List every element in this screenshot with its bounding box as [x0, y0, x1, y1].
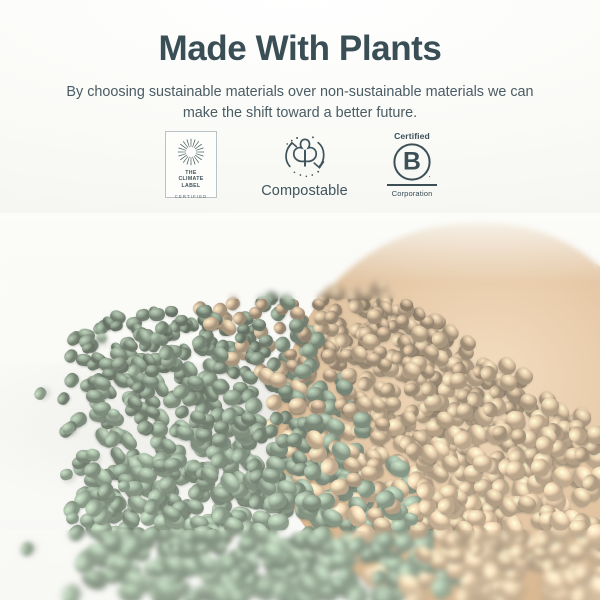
pellet [447, 547, 465, 563]
climate-label-line3: LABEL [178, 183, 203, 189]
made-with-plants-graphic: Made With Plants By choosing sustainable… [0, 0, 600, 600]
pellet [403, 382, 418, 396]
pellet [55, 389, 72, 406]
pellet [267, 513, 289, 532]
climate-label-wordmark: THE CLIMATE LABEL [178, 170, 203, 189]
pellet [109, 320, 124, 334]
b-corp-certified-text: Certified [394, 131, 430, 141]
pellet [353, 412, 371, 428]
svg-text:B: B [403, 149, 421, 176]
badge-climate-label: THE CLIMATE LABEL CERTIFIED [165, 131, 217, 198]
sunburst-icon [176, 137, 206, 167]
pellet [569, 519, 588, 537]
pellet [163, 457, 181, 473]
pellet-photograph [0, 213, 600, 600]
pellet [450, 373, 467, 390]
b-corp-corporation-text: Corporation [392, 189, 433, 198]
scattered-pellet [32, 385, 49, 402]
pellet [62, 371, 81, 390]
pellet [367, 309, 382, 324]
certification-badge-row: THE CLIMATE LABEL CERTIFIED [0, 131, 600, 213]
b-corp-circle-icon: B [392, 142, 432, 182]
pellet [121, 584, 143, 600]
pellet [377, 326, 392, 340]
pellet [58, 581, 84, 600]
scattered-pellet [59, 468, 74, 482]
pellet [289, 318, 305, 332]
b-corp-lockup: Certified B Corporation [383, 131, 441, 198]
pellet [196, 428, 213, 442]
registered-dot-icon [429, 176, 431, 178]
badge-compostable: Compostable [252, 131, 357, 199]
divider [387, 184, 437, 186]
compostable-label: Compostable [252, 183, 357, 199]
pellet [294, 363, 312, 379]
climate-label-frame: THE CLIMATE LABEL CERTIFIED [165, 131, 217, 198]
pellet-layer [0, 213, 600, 600]
climate-label-line2: CLIMATE [178, 176, 203, 182]
climate-label-certified-text: CERTIFIED [175, 194, 208, 199]
badge-b-corp: Certified B Corporation [383, 131, 441, 198]
page-subtitle: By choosing sustainable materials over n… [63, 82, 537, 124]
pellet [272, 320, 289, 337]
pellet [237, 536, 257, 553]
scattered-pellet [18, 540, 36, 559]
pellet [302, 494, 321, 511]
pellet [345, 472, 363, 487]
clover-recycle-icon [252, 131, 357, 181]
pellet [586, 426, 600, 444]
pellet [149, 308, 165, 321]
page-title: Made With Plants [0, 29, 600, 69]
